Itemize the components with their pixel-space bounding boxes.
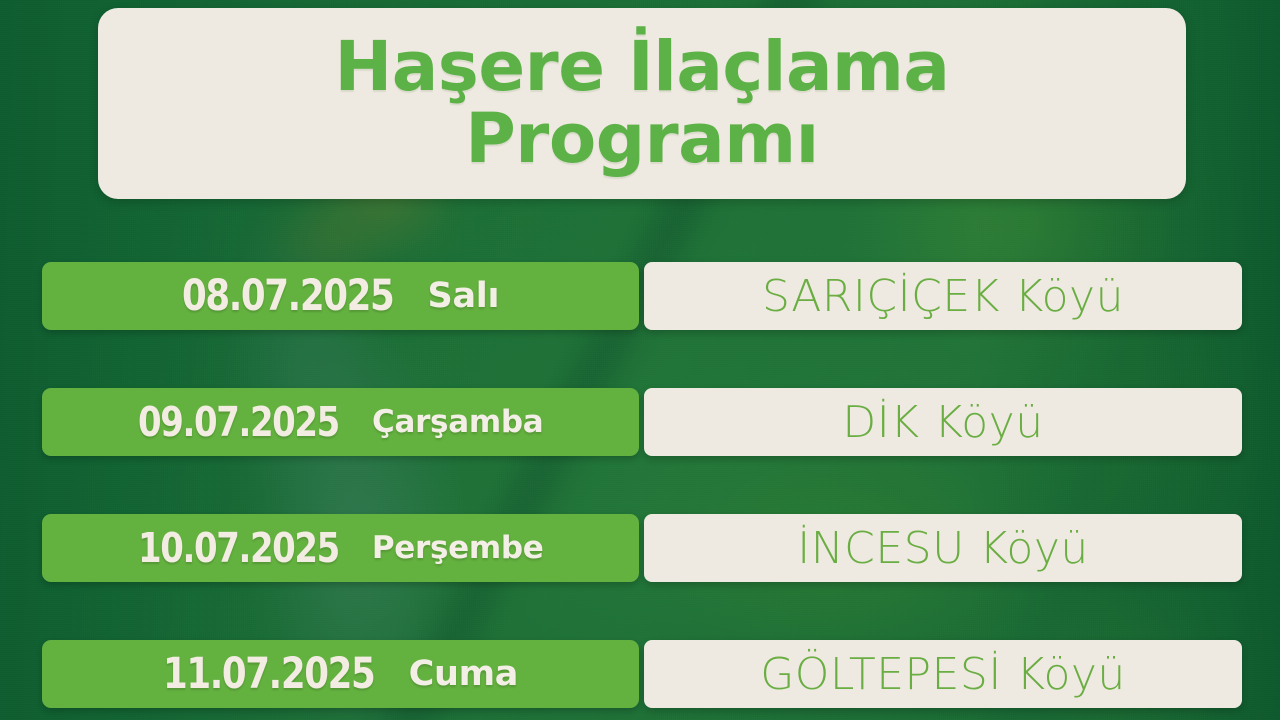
schedule-village: GÖLTEPESİ Köyü (760, 649, 1126, 700)
village-panel: DİK Köyü (644, 388, 1242, 456)
schedule-village: İNCESU Köyü (797, 523, 1089, 574)
schedule-row: 11.07.2025 Cuma GÖLTEPESİ Köyü (0, 640, 1280, 708)
schedule-date: 08.07.2025 (182, 271, 393, 321)
date-chip: 08.07.2025 Salı (42, 262, 639, 330)
title-line-2: Programı (465, 99, 819, 179)
schedule-row: 08.07.2025 Salı SARIÇİÇEK Köyü (0, 262, 1280, 330)
title-card: Haşere İlaçlama Programı (98, 8, 1186, 199)
schedule-village: DİK Köyü (842, 397, 1043, 448)
pest-spraying-schedule-poster: Haşere İlaçlama Programı 08.07.2025 Salı… (0, 0, 1280, 720)
schedule-date: 09.07.2025 (138, 398, 339, 446)
village-panel: İNCESU Köyü (644, 514, 1242, 582)
date-chip: 10.07.2025 Perşembe (42, 514, 639, 582)
schedule-date: 10.07.2025 (138, 524, 339, 572)
title-line-1: Haşere İlaçlama (335, 27, 950, 107)
schedule-row: 10.07.2025 Perşembe İNCESU Köyü (0, 514, 1280, 582)
page-title: Haşere İlaçlama Programı (335, 32, 950, 176)
date-chip: 09.07.2025 Çarşamba (42, 388, 639, 456)
village-panel: GÖLTEPESİ Köyü (644, 640, 1242, 708)
schedule-village: SARIÇİÇEK Köyü (762, 271, 1124, 322)
schedule-weekday: Perşembe (372, 530, 544, 566)
schedule-row: 09.07.2025 Çarşamba DİK Köyü (0, 388, 1280, 456)
date-chip: 11.07.2025 Cuma (42, 640, 639, 708)
schedule-weekday: Salı (428, 276, 500, 316)
schedule-weekday: Cuma (409, 654, 519, 694)
schedule-weekday: Çarşamba (372, 404, 543, 440)
schedule-list: 08.07.2025 Salı SARIÇİÇEK Köyü 09.07.202… (0, 262, 1280, 708)
schedule-date: 11.07.2025 (163, 649, 374, 699)
village-panel: SARIÇİÇEK Köyü (644, 262, 1242, 330)
